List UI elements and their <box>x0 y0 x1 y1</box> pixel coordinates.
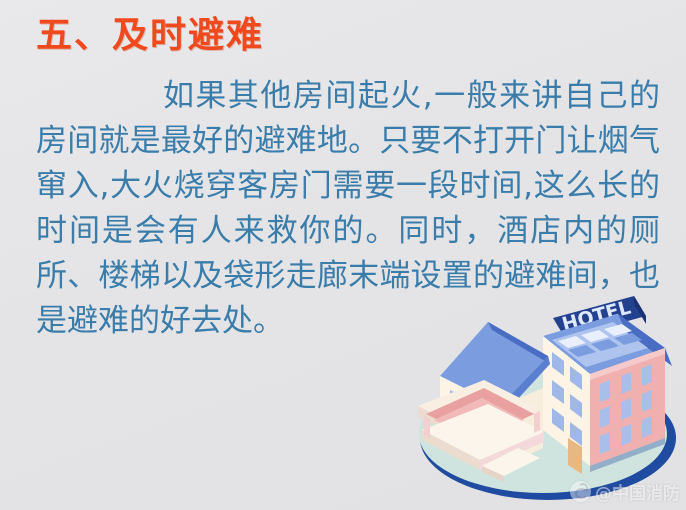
poster-canvas: 五、及时避难 如果其他房间起火,一般来讲自己的房间就是最好的避难地。只要不打开门… <box>0 0 686 510</box>
weibo-icon <box>570 481 591 502</box>
page-title: 五、及时避难 <box>36 14 264 58</box>
watermark-label: @中国消防 <box>595 479 680 504</box>
watermark: @中国消防 <box>570 479 680 504</box>
hotel-illustration: HOTEL <box>400 288 686 510</box>
